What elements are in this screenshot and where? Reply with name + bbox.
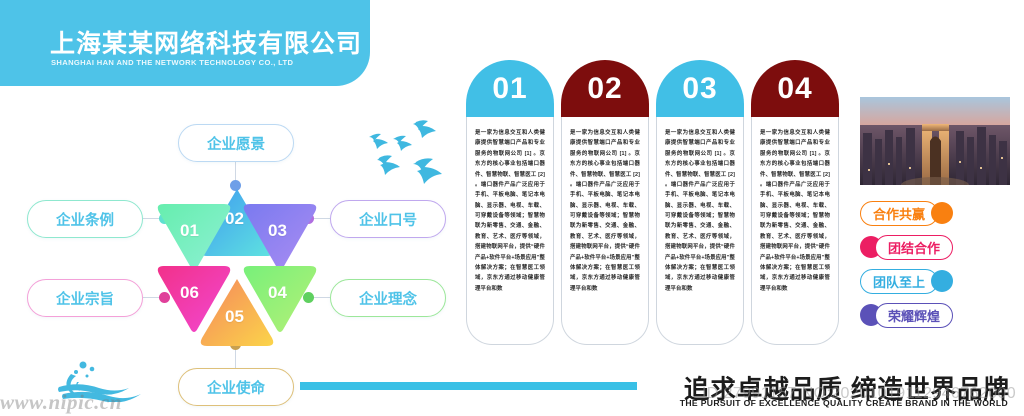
triangle-03[interactable]: 03	[241, 204, 319, 274]
triangle-01[interactable]: 01	[155, 204, 233, 274]
pill-rules[interactable]: 企业条例	[27, 200, 143, 238]
pill-idea[interactable]: 企业理念	[330, 279, 446, 317]
info-card-01[interactable]: 01 是一家为信息交互和人类健康提供智慧端口产品和专业服务的物联网公司 [1] …	[466, 60, 554, 345]
card-body-04: 是一家为信息交互和人类健康提供智慧端口产品和专业服务的物联网公司 [1] 。京东…	[751, 117, 839, 345]
pill-slogan[interactable]: 企业口号	[330, 200, 446, 238]
card-text-02: 是一家为信息交互和人类健康提供智慧端口产品和专业服务的物联网公司 [1] 。京东…	[570, 128, 640, 294]
value-pill-2[interactable]: 团结合作	[875, 235, 953, 260]
value-row-3[interactable]: 团队至上	[860, 268, 953, 294]
value-dot-3	[931, 270, 953, 292]
info-card-04[interactable]: 04 是一家为信息交互和人类健康提供智慧端口产品和专业服务的物联网公司 [1] …	[751, 60, 839, 345]
card-number-03: 03	[682, 74, 717, 104]
triangle-number-01: 01	[180, 221, 199, 241]
card-body-03: 是一家为信息交互和人类健康提供智慧端口产品和专业服务的物联网公司 [1] 。京东…	[656, 117, 744, 345]
card-text-04: 是一家为信息交互和人类健康提供智慧端口产品和专业服务的物联网公司 [1] 。京东…	[760, 128, 830, 294]
triangle-05[interactable]: 05	[198, 276, 276, 346]
company-name-cn: 上海某某网络科技有限公司	[50, 24, 362, 60]
poster-canvas: 上海某某网络科技有限公司 SHANGHAI HAN AND THE NETWOR…	[0, 0, 1024, 416]
pill-vision[interactable]: 企业愿景	[178, 124, 294, 162]
value-pill-4[interactable]: 荣耀辉煌	[875, 303, 953, 328]
card-body-01: 是一家为信息交互和人类健康提供智慧端口产品和专业服务的物联网公司 [1] 。京东…	[466, 117, 554, 345]
triangle-number-03: 03	[268, 221, 287, 241]
card-number-01: 01	[492, 74, 527, 104]
site-watermark: www.nipic.cn	[0, 388, 240, 416]
card-number-02: 02	[587, 74, 622, 104]
card-text-01: 是一家为信息交互和人类健康提供智慧端口产品和专业服务的物联网公司 [1] 。京东…	[475, 128, 545, 294]
card-header-03: 03	[656, 60, 744, 117]
value-pill-3[interactable]: 团队至上	[860, 269, 938, 294]
card-header-02: 02	[561, 60, 649, 117]
value-row-4[interactable]: 荣耀辉煌	[860, 302, 953, 328]
value-row-1[interactable]: 合作共赢	[860, 200, 953, 226]
triangle-number-05: 05	[225, 307, 244, 327]
flying-birds-icon	[344, 118, 454, 188]
cityscape-photo	[860, 97, 1010, 185]
card-body-02: 是一家为信息交互和人类健康提供智慧端口产品和专业服务的物联网公司 [1] 。京东…	[561, 117, 649, 345]
info-card-03[interactable]: 03 是一家为信息交互和人类健康提供智慧端口产品和专业服务的物联网公司 [1] …	[656, 60, 744, 345]
company-name-en: SHANGHAI HAN AND THE NETWORK TECHNOLOGY …	[51, 58, 293, 67]
card-number-04: 04	[777, 74, 812, 104]
watermark-text: www.nipic.cn	[0, 390, 122, 415]
cyan-divider-bar	[300, 382, 637, 390]
card-text-03: 是一家为信息交互和人类健康提供智慧端口产品和专业服务的物联网公司 [1] 。京东…	[665, 128, 735, 294]
card-header-04: 04	[751, 60, 839, 117]
id-watermark: ID:27991157 NO:20201019112946762000	[702, 385, 1016, 403]
info-card-02[interactable]: 02 是一家为信息交互和人类健康提供智慧端口产品和专业服务的物联网公司 [1] …	[561, 60, 649, 345]
triangle-number-06: 06	[180, 283, 199, 303]
value-row-2[interactable]: 团结合作	[860, 234, 953, 260]
card-header-01: 01	[466, 60, 554, 117]
value-dot-1	[931, 202, 953, 224]
pill-purpose[interactable]: 企业宗旨	[27, 279, 143, 317]
value-pill-1[interactable]: 合作共赢	[860, 201, 938, 226]
